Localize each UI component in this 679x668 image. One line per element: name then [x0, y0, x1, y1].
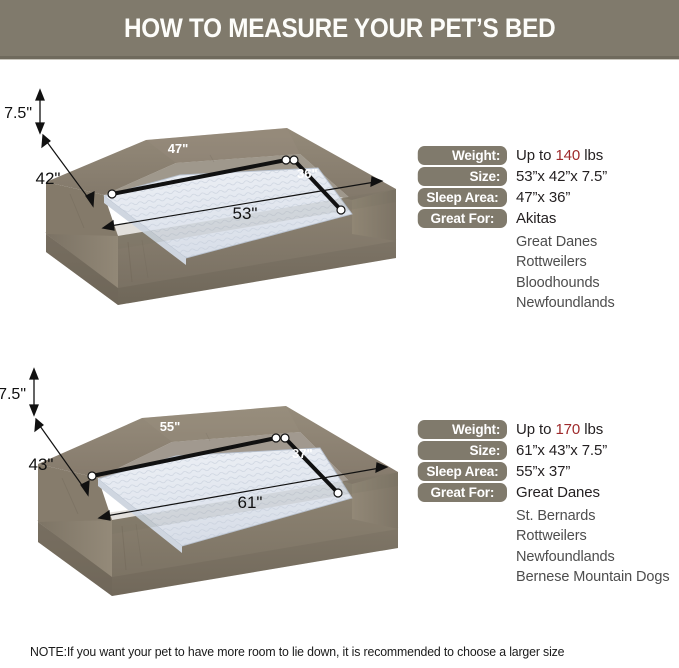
- dim-height-large: 7.5": [4, 105, 32, 122]
- dim-inner-width-xlarge: 55": [160, 419, 181, 434]
- bed-section-large: 47" 36" 7.5" 42": [0, 62, 679, 332]
- dim-inner-depth-xlarge: 37": [292, 446, 313, 461]
- spec-row-size: Size: 61”x 43”x 7.5”: [415, 441, 679, 460]
- value-size: 53”x 42”x 7.5”: [516, 167, 607, 186]
- weight-prefix: Up to: [516, 421, 551, 438]
- infographic-page: HOW TO MEASURE YOUR PET’S BED: [0, 0, 679, 668]
- label-great-for: Great For:: [418, 209, 507, 228]
- bed-diagram-xlarge-svg: 55" 37" 7.5" 43": [0, 338, 412, 628]
- value-sleep-area: 47”x 36”: [516, 188, 570, 207]
- bed-diagram-large-svg: 47" 36" 7.5" 42": [0, 62, 412, 332]
- value-great-for-first: Great Danes: [516, 483, 600, 502]
- label-weight: Weight:: [418, 146, 507, 165]
- dim-inner-depth-large: 36": [297, 166, 318, 181]
- dim-inner-width-large: 47": [168, 141, 189, 156]
- spec-row-sleep-area: Sleep Area: 55”x 37”: [415, 462, 679, 481]
- dim-width-xlarge: 61": [238, 493, 263, 512]
- spec-block-xlarge: Weight: Up to 170 lbs Size: 61”x 43”x 7.…: [415, 420, 679, 588]
- spec-row-size: Size: 53”x 42”x 7.5”: [415, 167, 679, 186]
- label-sleep-area: Sleep Area:: [418, 188, 507, 207]
- bed-illustration-xlarge: 55" 37" 7.5" 43": [0, 338, 412, 628]
- spec-block-large: Weight: Up to 140 lbs Size: 53”x 42”x 7.…: [415, 146, 679, 314]
- breed-item: Great Danes: [516, 232, 679, 253]
- breed-item: Newfoundlands: [516, 293, 679, 314]
- header-bar: HOW TO MEASURE YOUR PET’S BED: [0, 0, 679, 56]
- breed-item: Rottweilers: [516, 252, 679, 273]
- dim-depth-large: 42": [36, 169, 61, 188]
- value-great-for-first: Akitas: [516, 209, 556, 228]
- weight-suffix: lbs: [584, 147, 603, 164]
- breed-item: Newfoundlands: [516, 547, 679, 568]
- breed-item: St. Bernards: [516, 506, 679, 527]
- label-sleep-area: Sleep Area:: [418, 462, 507, 481]
- header-divider-light: [0, 59, 679, 60]
- label-great-for: Great For:: [418, 483, 507, 502]
- label-size: Size:: [418, 167, 507, 186]
- dim-width-large: 53": [233, 204, 258, 223]
- weight-value: 170: [555, 421, 580, 438]
- dim-height-xlarge: 7.5": [0, 386, 26, 403]
- bed-illustration-large: 47" 36" 7.5" 42": [0, 62, 412, 332]
- value-size: 61”x 43”x 7.5”: [516, 441, 607, 460]
- value-weight: Up to 170 lbs: [516, 420, 603, 439]
- spec-row-weight: Weight: Up to 140 lbs: [415, 146, 679, 165]
- spec-row-sleep-area: Sleep Area: 47”x 36”: [415, 188, 679, 207]
- weight-prefix: Up to: [516, 147, 551, 164]
- dim-depth-xlarge: 43": [29, 455, 54, 474]
- spec-row-weight: Weight: Up to 170 lbs: [415, 420, 679, 439]
- breed-item: Bloodhounds: [516, 273, 679, 294]
- weight-value: 140: [555, 147, 580, 164]
- breed-item: Bernese Mountain Dogs: [516, 567, 679, 588]
- breed-item: Rottweilers: [516, 526, 679, 547]
- value-weight: Up to 140 lbs: [516, 146, 603, 165]
- page-title: HOW TO MEASURE YOUR PET’S BED: [124, 13, 555, 44]
- footer-note: NOTE:If you want your pet to have more r…: [30, 645, 660, 659]
- label-weight: Weight:: [418, 420, 507, 439]
- bed-section-xlarge: 55" 37" 7.5" 43": [0, 338, 679, 628]
- label-size: Size:: [418, 441, 507, 460]
- weight-suffix: lbs: [584, 421, 603, 438]
- value-sleep-area: 55”x 37”: [516, 462, 570, 481]
